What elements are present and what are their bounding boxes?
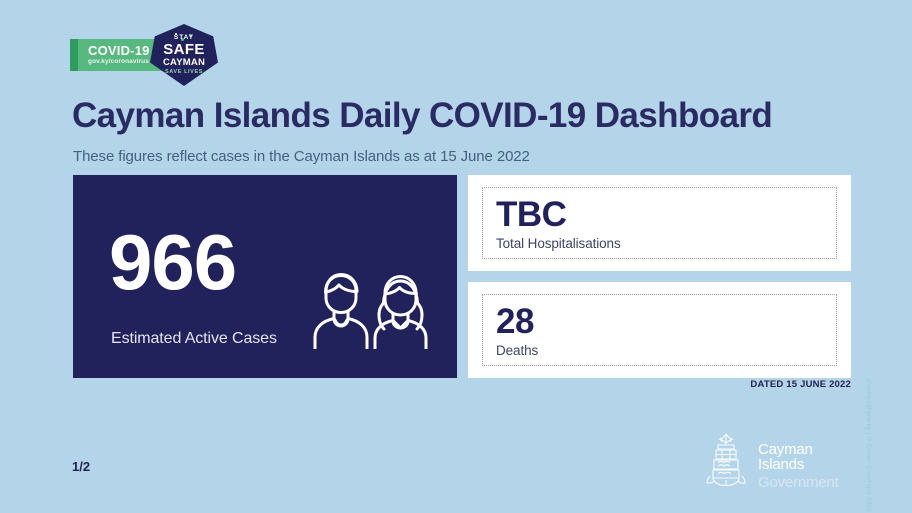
- active-cases-label: Estimated Active Cases: [111, 330, 277, 348]
- deaths-label: Deaths: [496, 343, 836, 358]
- dated-stamp: DATED 15 JUNE 2022: [750, 379, 851, 390]
- deaths-value: 28: [496, 303, 836, 341]
- badge-text-group: STAY SAFE CAYMAN SAVE LIVES: [150, 24, 218, 86]
- cayman-islands-government-logo: Cayman Islands Government: [700, 432, 850, 488]
- gov-logo-text: Cayman Islands Government: [758, 442, 850, 490]
- badge-save-lives-text: SAVE LIVES: [165, 70, 203, 76]
- page-number: 1/2: [72, 459, 90, 474]
- covid-safe-cayman-logo: COVID-19 gov.ky/coronavirus STAY SAFE CA…: [70, 24, 230, 86]
- card-dotted-frame: 28 Deaths: [482, 294, 837, 366]
- dashboard-page: COVID-19 gov.ky/coronavirus STAY SAFE CA…: [0, 0, 912, 513]
- deaths-card: 28 Deaths: [468, 282, 851, 378]
- stay-safe-cayman-badge: STAY SAFE CAYMAN SAVE LIVES: [150, 24, 218, 86]
- credit-copyright-text: graphics@gov.ky | © Crown Copyright 2022: [865, 378, 872, 512]
- page-title: Cayman Islands Daily COVID-19 Dashboard: [72, 96, 772, 136]
- hospitalisations-label: Total Hospitalisations: [496, 236, 836, 251]
- gov-logo-line1: Cayman Islands: [758, 442, 850, 472]
- card-dotted-frame: TBC Total Hospitalisations: [482, 187, 837, 259]
- hospitalisations-value: TBC: [496, 196, 836, 234]
- badge-cayman-text: CAYMAN: [163, 57, 205, 68]
- total-hospitalisations-card: TBC Total Hospitalisations: [468, 175, 851, 271]
- badge-safe-text: SAFE: [163, 43, 205, 57]
- coat-of-arms-crest-icon: [700, 432, 752, 488]
- active-cases-value: 966: [109, 223, 236, 301]
- estimated-active-cases-panel: 966 Estimated Active Cases: [73, 175, 457, 378]
- two-people-icon: [309, 263, 435, 349]
- page-subtitle: These figures reflect cases in the Cayma…: [73, 148, 530, 165]
- gov-logo-line2: Government: [758, 475, 850, 490]
